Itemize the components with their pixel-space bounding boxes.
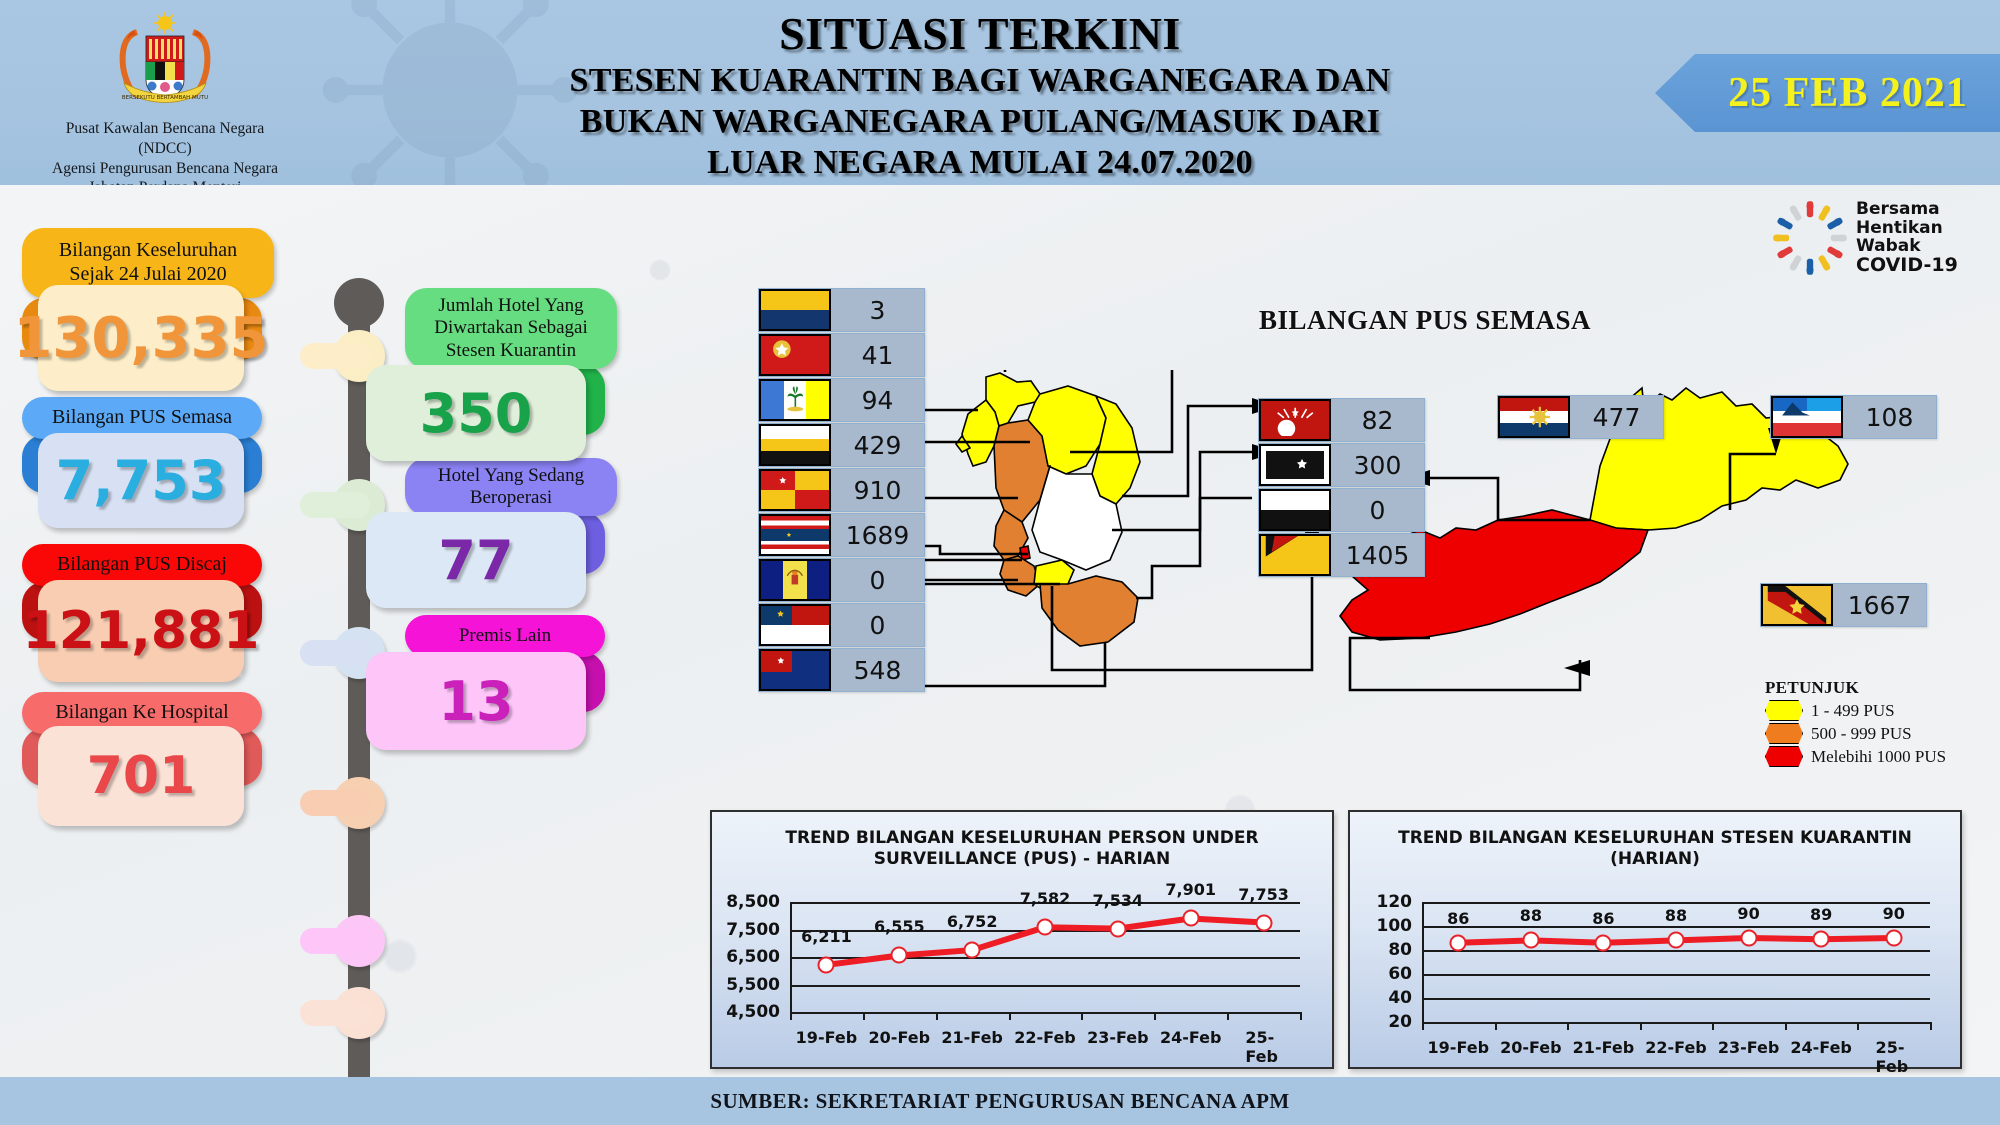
chart-data-point — [818, 956, 835, 973]
org-line-3: Jabatan Perdana Menteri — [40, 178, 290, 185]
chart-x-tick: 21-Feb — [1573, 1038, 1635, 1057]
chart-data-point — [891, 947, 908, 964]
bersama-hentikan-wabak-icon — [1770, 198, 1850, 278]
chart-data-point — [1037, 919, 1054, 936]
chart-x-tickmark — [1227, 1012, 1229, 1020]
chart-data-point — [1255, 914, 1272, 931]
flag-kuala-lumpur-icon — [759, 514, 831, 556]
flag-value-selangor: 910 — [831, 469, 924, 511]
legend-item-high: Melebihi 1000 PUS — [1765, 746, 1946, 767]
flag-value-perak: 429 — [831, 424, 924, 466]
chart-data-label: 88 — [1665, 906, 1687, 925]
flag-row-johor[interactable]: 548 — [758, 648, 925, 692]
flag-row-penang[interactable]: 94 — [758, 378, 925, 422]
flag-sabah-icon — [1771, 396, 1843, 438]
stat-card-hospital-value: 701 — [87, 746, 196, 806]
stat-card-hotels-operating-body: 77 — [366, 512, 586, 608]
flag-value-negeri-sembilan: 0 — [831, 604, 924, 646]
stat-card-pus-current-value: 7,753 — [56, 449, 227, 512]
flag-selangor-icon — [759, 469, 831, 511]
chart-y-tick: 100 — [1364, 916, 1412, 936]
stat-card-hospital-label-text: Bilangan Ke Hospital — [55, 701, 228, 725]
flag-value-melaka: 1405 — [1331, 534, 1424, 576]
chart-x-tickmark — [1930, 1022, 1932, 1030]
stat-card-pus-discharged-value: 121,881 — [23, 601, 260, 661]
flag-value-pahang: 0 — [1331, 489, 1424, 531]
flag-row-perak[interactable]: 429 — [758, 423, 925, 467]
stat-card-hotels-gazetted-value: 350 — [420, 382, 533, 445]
flag-row-pahang[interactable]: 0 — [1258, 488, 1425, 532]
stat-card-other-premises-body: 13 — [366, 652, 586, 750]
flag-row-perlis[interactable]: 3 — [758, 288, 925, 332]
legend-label-low: 1 - 499 PUS — [1811, 701, 1895, 721]
flag-value-johor: 548 — [831, 649, 924, 691]
flag-value-kelantan: 82 — [1331, 399, 1424, 441]
connector-5 — [300, 928, 370, 954]
chart-y-tick: 20 — [1364, 1012, 1412, 1032]
legend-label-high: Melebihi 1000 PUS — [1811, 747, 1946, 767]
flag-row-kelantan[interactable]: 82 — [1258, 398, 1425, 442]
campaign-logo: Bersama Hentikan Wabak COVID-19 — [1770, 196, 2000, 280]
stat-card-hotels-gazetted-label: Jumlah Hotel Yang Diwartakan Sebagai Ste… — [405, 288, 617, 369]
legend-swatch-low-icon — [1765, 700, 1803, 721]
stat-card-pus-current-body: 7,753 — [38, 433, 244, 528]
svg-text:BERSEKUTU BERTAMBAH MUTU: BERSEKUTU BERTAMBAH MUTU — [122, 95, 208, 101]
chart-x-tickmark — [1422, 1022, 1424, 1030]
ndcc-logo-block: BERSEKUTU BERTAMBAH MUTU Pusat Kawalan B… — [40, 10, 290, 185]
flag-kedah-icon — [759, 334, 831, 376]
stat-card-hotels-gazetted-body: 350 — [366, 365, 586, 461]
stat-card-total-since-label-text: Bilangan Keseluruhan Sejak 24 Julai 2020 — [59, 239, 237, 286]
stat-card-hotels-operating-label: Hotel Yang Sedang Beroperasi — [405, 458, 617, 516]
chart-x-tick: 19-Feb — [796, 1028, 858, 1047]
chart-gridline — [790, 1012, 1300, 1014]
malaysia-coat-of-arms-icon: BERSEKUTU BERTAMBAH MUTU — [90, 10, 240, 110]
page-subtitle-line-3: LUAR NEGARA MULAI 24.07.2020 — [420, 142, 1540, 183]
chart-x-tick: 22-Feb — [1014, 1028, 1076, 1047]
chart-y-tick: 6,500 — [718, 947, 780, 967]
chart-y-tick: 8,500 — [718, 892, 780, 912]
flag-value-kedah: 41 — [831, 334, 924, 376]
flag-melaka-icon — [1259, 534, 1331, 576]
chart-pus-trend-plot: 4,5005,5006,5007,5008,50019-Feb20-Feb21-… — [790, 902, 1300, 1012]
stat-card-other-premises-label: Premis Lain — [405, 615, 605, 657]
flag-value-kuala-lumpur: 1689 — [831, 514, 924, 556]
legend-label-mid: 500 - 999 PUS — [1811, 724, 1912, 744]
chart-x-tickmark — [1640, 1022, 1642, 1030]
campaign-line-2: Hentikan — [1856, 219, 1958, 237]
stat-card-total-since-value: 130,335 — [13, 306, 268, 371]
campaign-line-3: Wabak — [1856, 237, 1958, 255]
legend-swatch-mid-icon — [1765, 723, 1803, 744]
state-johor — [1040, 576, 1138, 646]
flag-value-sarawak: 1667 — [1833, 584, 1926, 626]
stat-card-pus-current-label-text: Bilangan PUS Semasa — [52, 406, 232, 430]
flag-row-sabah[interactable]: 108 — [1770, 395, 1937, 439]
chart-data-point — [1668, 932, 1685, 949]
chart-x-tick: 24-Feb — [1790, 1038, 1852, 1057]
flag-row-terengganu[interactable]: 300 — [1258, 443, 1425, 487]
chart-data-point — [1595, 934, 1612, 951]
map-legend: PETUNJUK 1 - 499 PUS 500 - 999 PUS Meleb… — [1765, 678, 1946, 767]
stat-card-other-premises-value: 13 — [438, 670, 513, 733]
chart-x-tickmark — [863, 1012, 865, 1020]
stat-card-hotels-operating-value: 77 — [438, 529, 513, 592]
org-line-2: Agensi Pengurusan Bencana Negara — [40, 159, 290, 179]
chart-y-tick: 60 — [1364, 964, 1412, 984]
page-subtitle-line-1: STESEN KUARANTIN BAGI WARGANEGARA DAN — [420, 60, 1540, 101]
chart-x-tickmark — [1300, 1012, 1302, 1020]
chart-x-tickmark — [1785, 1022, 1787, 1030]
org-line-1: Pusat Kawalan Bencana Negara (NDCC) — [40, 119, 290, 159]
flag-value-labuan: 477 — [1570, 396, 1663, 438]
page-subtitle-line-2: BUKAN WARGANEGARA PULANG/MASUK DARI — [420, 101, 1540, 142]
flag-negeri-sembilan-icon — [759, 604, 831, 646]
flag-value-putrajaya: 0 — [831, 559, 924, 601]
flag-row-kuala-lumpur[interactable]: 1689 — [758, 513, 925, 557]
stat-card-pus-discharged-body: 121,881 — [38, 580, 244, 682]
chart-data-point — [1885, 930, 1902, 947]
page-footer: SUMBER: SEKRETARIAT PENGURUSAN BENCANA A… — [0, 1077, 2000, 1125]
stat-card-hotels-operating-label-text: Hotel Yang Sedang Beroperasi — [438, 465, 584, 510]
flag-penang-icon — [759, 379, 831, 421]
chart-y-tick: 7,500 — [718, 920, 780, 940]
chart-x-tickmark — [1154, 1012, 1156, 1020]
state-negeri-sembilan — [1000, 556, 1040, 596]
chart-data-label: 86 — [1447, 909, 1469, 928]
flag-row-selangor[interactable]: 910 — [758, 468, 925, 512]
chart-data-label: 7,534 — [1093, 891, 1144, 910]
connector-1 — [300, 343, 370, 369]
flag-row-negeri-sembilan[interactable]: 0 — [758, 603, 925, 647]
chart-data-point — [964, 942, 981, 959]
date-badge-label: 25 FEB 2021 — [1702, 69, 1968, 117]
chart-data-label: 7,582 — [1020, 889, 1071, 908]
stat-card-hospital-body: 701 — [38, 726, 244, 826]
stat-card-other-premises-label-text: Premis Lain — [459, 625, 551, 647]
flag-terengganu-icon — [1259, 444, 1331, 486]
chart-gridline — [1422, 1022, 1930, 1024]
chart-x-tick: 25-Feb — [1245, 1028, 1281, 1066]
chart-x-tickmark — [790, 1012, 792, 1020]
flag-perak-icon — [759, 424, 831, 466]
page-header: BERSEKUTU BERTAMBAH MUTU Pusat Kawalan B… — [0, 0, 2000, 185]
chart-x-tick: 20-Feb — [1500, 1038, 1562, 1057]
flag-value-perlis: 3 — [831, 289, 924, 331]
chart-data-point — [1813, 931, 1830, 948]
flag-row-putrajaya[interactable]: 0 — [758, 558, 925, 602]
flag-value-sabah: 108 — [1843, 396, 1936, 438]
connector-2 — [300, 492, 370, 518]
chart-x-tickmark — [1712, 1022, 1714, 1030]
flag-labuan-icon — [1498, 396, 1570, 438]
flag-pahang-icon — [1259, 489, 1331, 531]
date-badge: 25 FEB 2021 — [1655, 54, 2000, 132]
chart-data-point — [1182, 910, 1199, 927]
chart-x-tickmark — [1857, 1022, 1859, 1030]
connector-6 — [300, 1000, 370, 1026]
title-block: SITUASI TERKINI STESEN KUARANTIN BAGI WA… — [420, 8, 1540, 184]
chart-x-tick: 23-Feb — [1087, 1028, 1149, 1047]
chart-x-tick: 20-Feb — [869, 1028, 931, 1047]
chart-x-tick: 25-Feb — [1876, 1038, 1912, 1076]
chart-data-label: 88 — [1520, 906, 1542, 925]
chart-data-label: 6,211 — [801, 927, 852, 946]
chart-x-tick: 21-Feb — [941, 1028, 1003, 1047]
chart-y-tick: 5,500 — [718, 975, 780, 995]
chart-x-tick: 19-Feb — [1428, 1038, 1490, 1057]
flag-johor-icon — [759, 649, 831, 691]
campaign-line-4: COVID-19 — [1856, 255, 1958, 276]
flag-row-sarawak[interactable]: 1667 — [1760, 583, 1927, 627]
flag-row-melaka[interactable]: 1405 — [1258, 533, 1425, 577]
stat-card-pus-discharged-label-text: Bilangan PUS Discaj — [57, 553, 227, 577]
chart-data-label: 7,753 — [1238, 885, 1289, 904]
chart-data-label: 90 — [1883, 904, 1905, 923]
chart-x-tickmark — [1567, 1022, 1569, 1030]
chart-y-tick: 40 — [1364, 988, 1412, 1008]
chart-x-tickmark — [1495, 1022, 1497, 1030]
chart-x-tickmark — [1009, 1012, 1011, 1020]
page-title: SITUASI TERKINI — [420, 8, 1540, 60]
chart-data-point — [1109, 920, 1126, 937]
flag-value-terengganu: 300 — [1331, 444, 1424, 486]
chart-station-trend-plot: 2040608010012019-Feb20-Feb21-Feb22-Feb23… — [1422, 902, 1930, 1022]
flag-sarawak-icon — [1761, 584, 1833, 626]
legend-item-low: 1 - 499 PUS — [1765, 700, 1946, 721]
legend-item-mid: 500 - 999 PUS — [1765, 723, 1946, 744]
chart-station-trend: TREND BILANGAN KESELURUHAN STESEN KUARAN… — [1348, 810, 1962, 1069]
chart-data-label: 89 — [1810, 905, 1832, 924]
chart-data-label: 86 — [1592, 909, 1614, 928]
flag-kelantan-icon — [1259, 399, 1331, 441]
chart-station-trend-title: TREND BILANGAN KESELURUHAN STESEN KUARAN… — [1350, 828, 1960, 871]
chart-x-tick: 24-Feb — [1160, 1028, 1222, 1047]
connector-4 — [300, 790, 370, 816]
legend-swatch-high-icon — [1765, 746, 1803, 767]
flag-value-penang: 94 — [831, 379, 924, 421]
chart-data-label: 6,752 — [947, 912, 998, 931]
flag-putrajaya-icon — [759, 559, 831, 601]
chart-y-tick: 4,500 — [718, 1002, 780, 1022]
stat-card-hotels-gazetted-label-text: Jumlah Hotel Yang Diwartakan Sebagai Ste… — [434, 295, 588, 362]
flag-row-labuan[interactable]: 477 — [1497, 395, 1664, 439]
chart-data-label: 6,555 — [874, 917, 925, 936]
legend-title: PETUNJUK — [1765, 678, 1946, 698]
chart-data-point — [1450, 934, 1467, 951]
chart-x-tick: 23-Feb — [1718, 1038, 1780, 1057]
chart-pus-trend: TREND BILANGAN KESELURUHAN PERSON UNDER … — [710, 810, 1334, 1069]
chart-x-tick: 22-Feb — [1645, 1038, 1707, 1057]
chart-x-tickmark — [936, 1012, 938, 1020]
chart-data-label: 7,901 — [1165, 880, 1216, 899]
chart-pus-trend-title: TREND BILANGAN KESELURUHAN PERSON UNDER … — [712, 828, 1332, 871]
chart-y-tick: 120 — [1364, 892, 1412, 912]
connector-3 — [300, 640, 370, 666]
stat-card-total-since-body: 130,335 — [38, 285, 244, 391]
flag-perlis-icon — [759, 289, 831, 331]
chart-data-label: 90 — [1737, 904, 1759, 923]
flag-row-kedah[interactable]: 41 — [758, 333, 925, 377]
chart-y-tick: 80 — [1364, 940, 1412, 960]
chart-data-point — [1522, 932, 1539, 949]
chart-data-point — [1740, 930, 1757, 947]
map-section-title: BILANGAN PUS SEMASA — [1240, 305, 1610, 336]
campaign-line-1: Bersama — [1856, 200, 1958, 218]
footer-source: SUMBER: SEKRETARIAT PENGURUSAN BENCANA A… — [710, 1089, 1289, 1114]
chart-x-tickmark — [1081, 1012, 1083, 1020]
